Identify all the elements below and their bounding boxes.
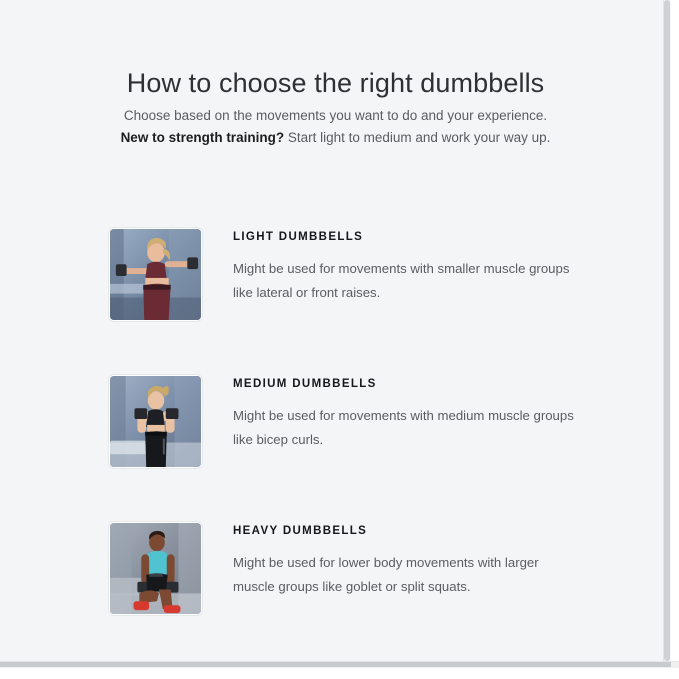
item-body: Might be used for lower body movements w… (233, 551, 578, 599)
subtitle-line-2: New to strength training? Start light to… (0, 127, 671, 149)
item-heading: LIGHT DUMBBELLS (233, 230, 633, 244)
list-item: LIGHT DUMBBELLS Might be used for moveme… (109, 228, 649, 321)
page-content: How to choose the right dumbbells Choose… (0, 0, 671, 661)
list-item: MEDIUM DUMBBELLS Might be used for movem… (109, 375, 649, 468)
screenshot-viewport: How to choose the right dumbbells Choose… (0, 0, 679, 679)
page-panel: How to choose the right dumbbells Choose… (0, 0, 671, 661)
man-split-squat-image (110, 523, 201, 614)
medium-dumbbells-text: MEDIUM DUMBBELLS Might be used for movem… (233, 375, 633, 452)
item-body: Might be used for movements with medium … (233, 404, 578, 452)
horizontal-scrollbar-thumb[interactable] (0, 662, 671, 667)
page-subtitle: Choose based on the movements you want t… (0, 105, 671, 149)
woman-bicep-curl-image (110, 376, 201, 467)
page-title: How to choose the right dumbbells (0, 66, 671, 100)
item-heading: MEDIUM DUMBBELLS (233, 377, 633, 391)
woman-lateral-raise-image (110, 229, 201, 320)
subtitle-line-1: Choose based on the movements you want t… (0, 105, 671, 127)
heavy-dumbbells-text: HEAVY DUMBBELLS Might be used for lower … (233, 522, 633, 599)
item-body: Might be used for movements with smaller… (233, 257, 578, 305)
subtitle-lead: New to strength training? (121, 130, 285, 145)
light-dumbbells-text: LIGHT DUMBBELLS Might be used for moveme… (233, 228, 633, 305)
heavy-dumbbells-thumbnail[interactable] (109, 522, 202, 615)
vertical-scrollbar-thumb[interactable] (664, 0, 670, 661)
medium-dumbbells-thumbnail[interactable] (109, 375, 202, 468)
item-heading: HEAVY DUMBBELLS (233, 524, 633, 538)
dumbbell-guide-list: LIGHT DUMBBELLS Might be used for moveme… (109, 228, 649, 661)
light-dumbbells-thumbnail[interactable] (109, 228, 202, 321)
subtitle-rest: Start light to medium and work your way … (284, 130, 550, 145)
list-item: HEAVY DUMBBELLS Might be used for lower … (109, 522, 649, 615)
vertical-scrollbar-track[interactable] (663, 0, 671, 661)
